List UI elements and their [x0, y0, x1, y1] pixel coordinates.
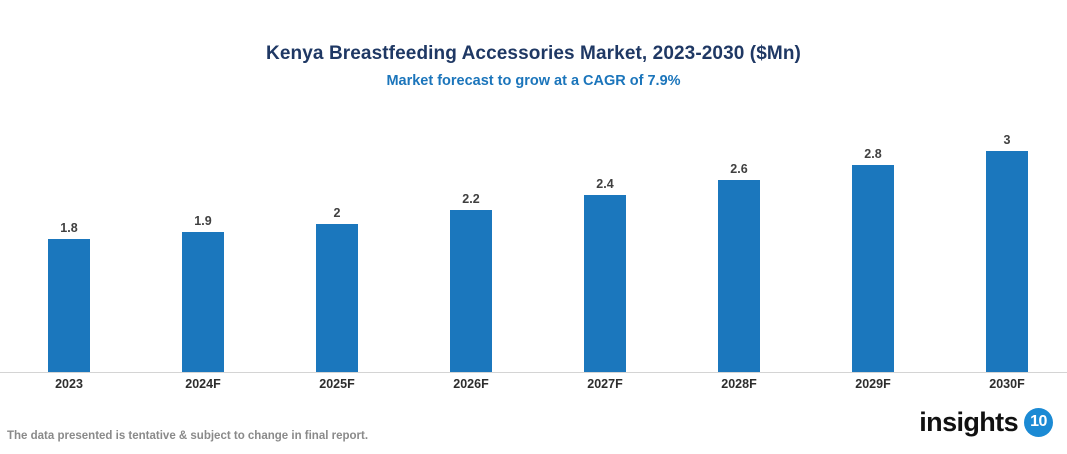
x-axis-label: 2023: [2, 376, 136, 392]
bar-value-label: 1.8: [60, 221, 77, 235]
bar[interactable]: 2.2: [450, 210, 492, 372]
plot-area: 1.81.922.22.42.62.83: [0, 110, 1067, 373]
bar-group: 2.6: [672, 110, 806, 372]
bar[interactable]: 2.8: [852, 165, 894, 372]
bar-group: 2.8: [806, 110, 940, 372]
bar[interactable]: 2.4: [584, 195, 626, 372]
chart-title: Kenya Breastfeeding Accessories Market, …: [0, 42, 1067, 66]
x-axis-label: 2026F: [404, 376, 538, 392]
bar-value-label: 2: [334, 206, 341, 220]
bar-group: 2.4: [538, 110, 672, 372]
logo-badge-icon: 10: [1024, 408, 1053, 437]
chart-canvas: Kenya Breastfeeding Accessories Market, …: [0, 0, 1067, 454]
logo-wordmark: insights: [919, 407, 1018, 437]
bar-series: 1.81.922.22.42.62.83: [0, 110, 1067, 372]
bar[interactable]: 3: [986, 151, 1028, 372]
bar[interactable]: 2: [316, 224, 358, 372]
bar-value-label: 2.2: [462, 192, 479, 206]
bar-value-label: 1.9: [194, 214, 211, 228]
x-axis-label: 2024F: [136, 376, 270, 392]
bar[interactable]: 1.9: [182, 232, 224, 372]
x-axis-label: 2027F: [538, 376, 672, 392]
bar-group: 1.8: [2, 110, 136, 372]
bar-group: 2: [270, 110, 404, 372]
x-axis-label: 2028F: [672, 376, 806, 392]
bar[interactable]: 2.6: [718, 180, 760, 372]
chart-header: Kenya Breastfeeding Accessories Market, …: [0, 42, 1067, 91]
bar-value-label: 2.4: [596, 177, 613, 191]
chart-subtitle: Market forecast to grow at a CAGR of 7.9…: [0, 71, 1067, 91]
x-axis-label: 2030F: [940, 376, 1067, 392]
bar-group: 2.2: [404, 110, 538, 372]
insights10-logo: insights 10: [919, 404, 1053, 440]
x-axis-label: 2025F: [270, 376, 404, 392]
disclaimer-text: The data presented is tentative & subjec…: [7, 429, 368, 444]
x-axis-tick-labels: 20232024F2025F2026F2027F2028F2029F2030F: [0, 376, 1067, 396]
bar-value-label: 2.8: [864, 147, 881, 161]
x-axis-line: [0, 372, 1067, 373]
x-axis-label: 2029F: [806, 376, 940, 392]
bar-value-label: 2.6: [730, 162, 747, 176]
bar-group: 3: [940, 110, 1067, 372]
bar[interactable]: 1.8: [48, 239, 90, 372]
bar-value-label: 3: [1004, 133, 1011, 147]
bar-group: 1.9: [136, 110, 270, 372]
